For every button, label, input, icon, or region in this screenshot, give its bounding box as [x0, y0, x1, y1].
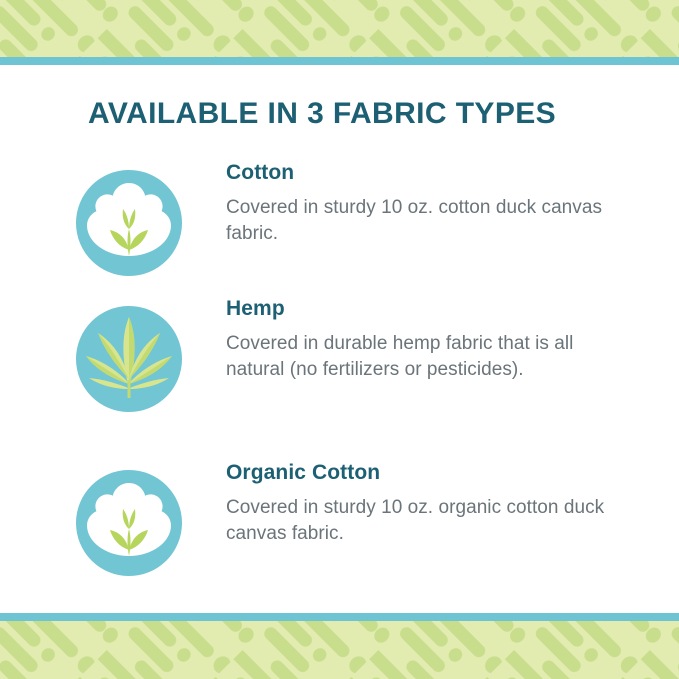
feature-row-hemp: Hemp Covered in durable hemp fabric that… [72, 296, 632, 416]
feature-description: Covered in durable hemp fabric that is a… [226, 331, 608, 383]
feature-text-cotton: Cotton Covered in sturdy 10 oz. cotton d… [192, 160, 632, 247]
hemp-leaf-icon [72, 296, 192, 416]
top-divider-rule [0, 57, 679, 65]
feature-description: Covered in sturdy 10 oz. cotton duck can… [226, 195, 608, 247]
feature-text-hemp: Hemp Covered in durable hemp fabric that… [192, 296, 632, 383]
page-title: AVAILABLE IN 3 FABRIC TYPES [88, 96, 556, 132]
feature-row-organic-cotton: Organic Cotton Covered in sturdy 10 oz. … [72, 460, 632, 580]
feature-title: Organic Cotton [226, 460, 632, 486]
feature-title: Cotton [226, 160, 632, 186]
cotton-boll-icon [72, 460, 192, 580]
feature-text-organic-cotton: Organic Cotton Covered in sturdy 10 oz. … [192, 460, 632, 547]
feature-title: Hemp [226, 296, 632, 322]
cotton-boll-icon [72, 160, 192, 280]
feature-description: Covered in sturdy 10 oz. organic cotton … [226, 495, 608, 547]
fabric-types-infographic: AVAILABLE IN 3 FABRIC TYPES Cotton Cover… [0, 0, 679, 679]
feature-row-cotton: Cotton Covered in sturdy 10 oz. cotton d… [72, 160, 632, 280]
bottom-pattern-band [0, 621, 679, 679]
bottom-divider-rule [0, 613, 679, 621]
top-pattern-band [0, 0, 679, 57]
